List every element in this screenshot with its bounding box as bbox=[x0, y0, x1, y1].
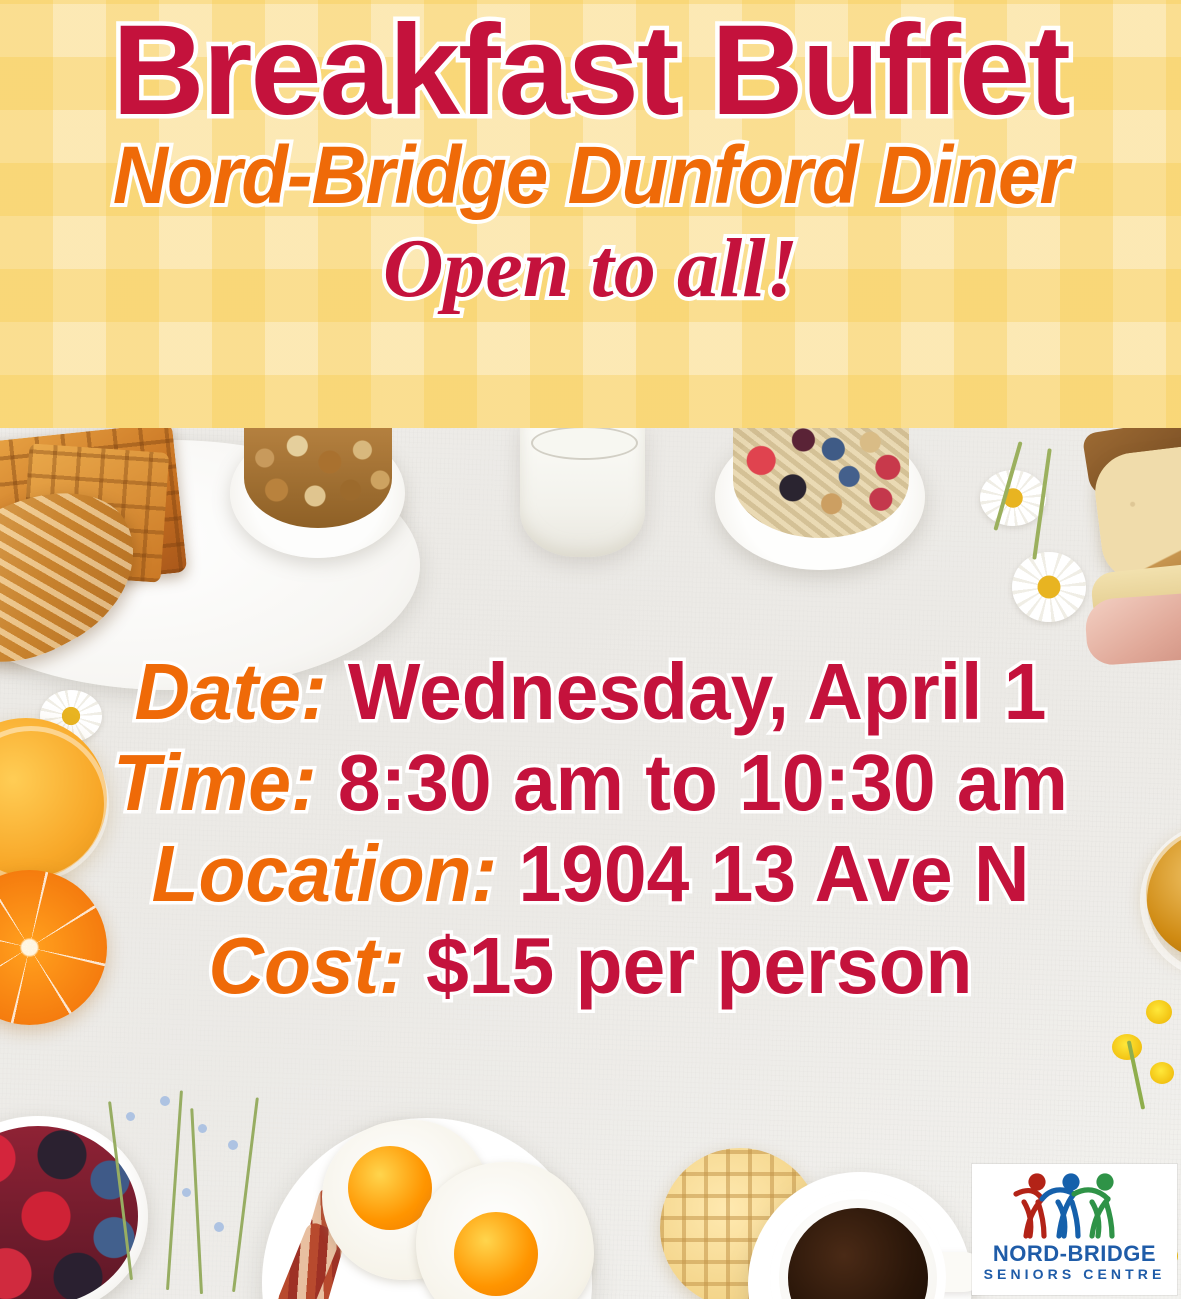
detail-row-location: Location: 1904 13 Ave N bbox=[24, 828, 1158, 919]
yellow-flower-icon bbox=[1112, 1034, 1142, 1060]
wildflower-sprig bbox=[190, 1108, 203, 1294]
breakfast-buffet-poster: Breakfast Buffet Nord-Bridge Dunford Din… bbox=[0, 0, 1181, 1299]
nord-bridge-logo: NORD-BRIDGE SENIORS CENTRE bbox=[972, 1164, 1177, 1295]
wildflower-sprig bbox=[232, 1097, 259, 1292]
mixed-nuts-icon bbox=[244, 428, 392, 528]
flower-bud bbox=[198, 1124, 207, 1133]
detail-value-date: Wednesday, April 1 bbox=[348, 647, 1047, 736]
logo-name: NORD-BRIDGE bbox=[972, 1242, 1177, 1266]
poster-tagline: Open to all! bbox=[0, 225, 1181, 313]
detail-row-cost: Cost: $15 per person bbox=[24, 920, 1158, 1011]
milk-glass-rim bbox=[531, 426, 638, 460]
detail-row-time: Time: 8:30 am to 10:30 am bbox=[24, 737, 1158, 828]
logo-subtitle: SENIORS CENTRE bbox=[972, 1266, 1177, 1283]
flower-bud bbox=[228, 1140, 238, 1150]
flower-bud bbox=[214, 1222, 224, 1232]
flower-bud bbox=[126, 1112, 135, 1121]
poster-header: Breakfast Buffet Nord-Bridge Dunford Din… bbox=[0, 0, 1181, 314]
page-title: Breakfast Buffet bbox=[0, 0, 1181, 137]
flower-bud bbox=[182, 1188, 191, 1197]
detail-value-location: 1904 13 Ave N bbox=[518, 829, 1029, 918]
detail-value-time: 8:30 am to 10:30 am bbox=[338, 738, 1068, 827]
detail-label-time: Time: bbox=[113, 738, 316, 827]
egg-yolk-icon bbox=[454, 1212, 538, 1296]
granola-berries-icon bbox=[733, 424, 909, 538]
yellow-flower-icon bbox=[1150, 1062, 1174, 1084]
logo-text: NORD-BRIDGE SENIORS CENTRE bbox=[972, 1242, 1177, 1283]
event-details: Date: Wednesday, April 1 Time: 8:30 am t… bbox=[0, 646, 1181, 1011]
wildflower-sprig bbox=[166, 1090, 183, 1290]
detail-label-location: Location: bbox=[152, 829, 498, 918]
detail-row-date: Date: Wednesday, April 1 bbox=[24, 646, 1158, 737]
detail-label-date: Date: bbox=[135, 647, 327, 736]
flower-bud bbox=[160, 1096, 170, 1106]
three-figures-icon bbox=[972, 1168, 1177, 1240]
detail-value-cost: $15 per person bbox=[426, 921, 972, 1010]
detail-label-cost: Cost: bbox=[209, 921, 405, 1010]
poster-subtitle: Nord-Bridge Dunford Diner bbox=[41, 133, 1139, 220]
